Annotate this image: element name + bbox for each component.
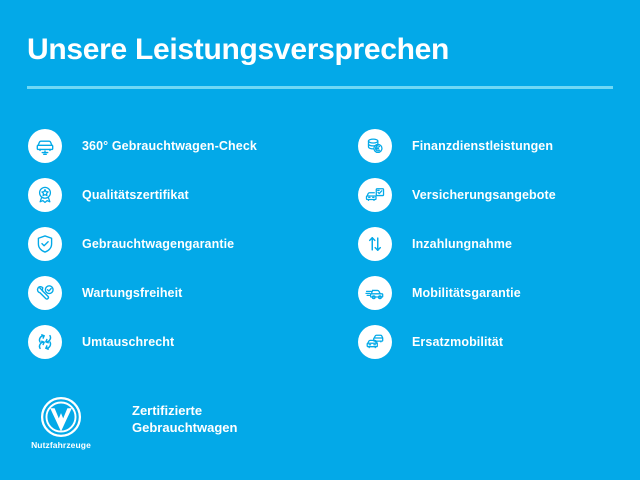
footer: Nutzfahrzeuge Zertifizierte Gebrauchtwag… — [28, 396, 237, 450]
two-cars-icon — [358, 325, 392, 359]
list-item-label: Umtauschrecht — [82, 335, 174, 349]
list-item[interactable]: Inzahlungnahme — [358, 219, 628, 268]
list-item-label: Ersatzmobilität — [412, 335, 503, 349]
list-item[interactable]: Ersatzmobilität — [358, 317, 628, 366]
list-item[interactable]: Wartungsfreiheit — [28, 268, 328, 317]
list-item-label: Wartungsfreiheit — [82, 286, 182, 300]
list-item-label: Mobilitätsgarantie — [412, 286, 521, 300]
promises-column-right: Finanzdienstleistungen Versicherungsange… — [358, 121, 628, 366]
car-motion-icon — [358, 276, 392, 310]
car-document-check-icon — [358, 178, 392, 212]
volkswagen-logo-icon — [40, 396, 82, 438]
list-item-label: Finanzdienstleistungen — [412, 139, 553, 153]
list-item-label: Qualitätszertifikat — [82, 188, 189, 202]
title-divider — [27, 86, 613, 89]
list-item-label: Inzahlungnahme — [412, 237, 512, 251]
footer-caption: Zertifizierte Gebrauchtwagen — [132, 402, 237, 436]
page-title: Unsere Leistungsversprechen — [27, 33, 449, 67]
footer-caption-line-2: Gebrauchtwagen — [132, 419, 237, 436]
coins-euro-icon — [358, 129, 392, 163]
brand-lockup: Nutzfahrzeuge — [28, 396, 94, 450]
list-item[interactable]: Mobilitätsgarantie — [358, 268, 628, 317]
list-item-label: 360° Gebrauchtwagen-Check — [82, 139, 257, 153]
list-item[interactable]: Versicherungsangebote — [358, 170, 628, 219]
award-rosette-icon — [28, 178, 62, 212]
list-item[interactable]: Umtauschrecht — [28, 317, 328, 366]
up-down-arrows-icon — [358, 227, 392, 261]
wrench-check-icon — [28, 276, 62, 310]
list-item-label: Gebrauchtwagengarantie — [82, 237, 234, 251]
list-item[interactable]: 360° Gebrauchtwagen-Check — [28, 121, 328, 170]
list-item[interactable]: Gebrauchtwagengarantie — [28, 219, 328, 268]
exchange-arrows-icon — [28, 325, 62, 359]
promises-column-left: 360° Gebrauchtwagen-Check Qualitätszerti… — [28, 121, 328, 366]
list-item[interactable]: Qualitätszertifikat — [28, 170, 328, 219]
vw-service-promises-slide: { "header": { "title": "Unsere Leistungs… — [0, 0, 640, 480]
list-item-label: Versicherungsangebote — [412, 188, 556, 202]
shield-check-icon — [28, 227, 62, 261]
list-item[interactable]: Finanzdienstleistungen — [358, 121, 628, 170]
footer-caption-line-1: Zertifizierte — [132, 402, 237, 419]
brand-wordmark: Nutzfahrzeuge — [31, 440, 91, 450]
car-inspection-icon — [28, 129, 62, 163]
